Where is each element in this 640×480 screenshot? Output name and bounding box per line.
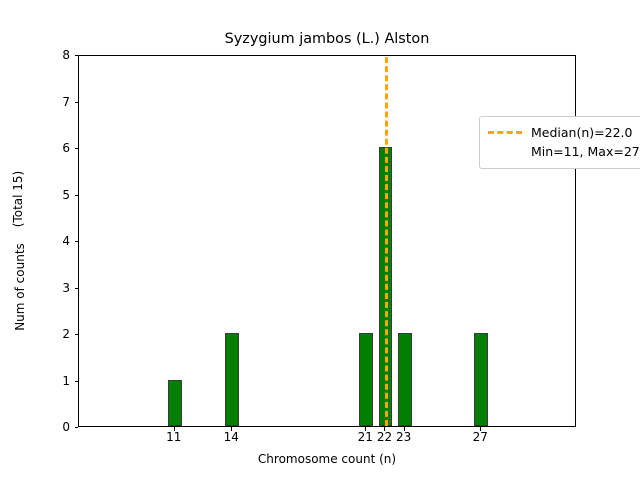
bar [168, 380, 182, 427]
x-axis-tick-mark [174, 427, 175, 431]
legend-label-median: Median(n)=22.0 [531, 125, 632, 140]
legend-item-median: Median(n)=22.0 [488, 123, 640, 142]
y-axis-tick-mark [75, 427, 79, 428]
y-axis-tick-label: 1 [40, 375, 70, 387]
y-axis-tick-label: 4 [40, 235, 70, 247]
bar [474, 333, 488, 426]
median-line [385, 56, 388, 426]
chart-legend: Median(n)=22.0 Min=11, Max=27 [479, 116, 640, 169]
x-axis-tick-mark [404, 427, 405, 431]
bar [359, 333, 373, 426]
matplotlib-figure: Syzygium jambos (L.) Alston 012345678 11… [0, 0, 640, 480]
y-axis-tick-label: 7 [40, 96, 70, 108]
y-axis-tick-label: 3 [40, 282, 70, 294]
bar [398, 333, 412, 426]
blank-swatch-icon [488, 150, 522, 153]
legend-label-minmax: Min=11, Max=27 [531, 144, 640, 159]
x-axis-tick-label: 27 [460, 431, 500, 444]
x-axis-tick-label: 23 [384, 431, 424, 444]
y-axis-tick-label: 0 [40, 421, 70, 433]
x-axis-tick-mark [480, 427, 481, 431]
x-axis-tick-label: 11 [154, 431, 194, 444]
x-axis-label: Chromosome count (n) [78, 452, 576, 466]
plot-axes: Median(n)=22.0 Min=11, Max=27 [78, 55, 576, 427]
x-axis-tick-mark [384, 427, 385, 431]
x-axis-tick-label: 14 [211, 431, 251, 444]
x-axis-tick-mark [365, 427, 366, 431]
bar [225, 333, 239, 426]
y-axis-tick-label: 5 [40, 189, 70, 201]
y-axis-tick-label: 2 [40, 328, 70, 340]
y-axis-tick-label: 6 [40, 142, 70, 154]
legend-item-minmax: Min=11, Max=27 [488, 142, 640, 161]
plot-area [79, 56, 575, 426]
y-axis-tick-label: 8 [40, 49, 70, 61]
y-axis-total-label: (Total 15) [11, 109, 25, 289]
x-axis-tick-mark [231, 427, 232, 431]
dashed-line-icon [488, 131, 522, 134]
page-title: Syzygium jambos (L.) Alston [78, 31, 576, 48]
